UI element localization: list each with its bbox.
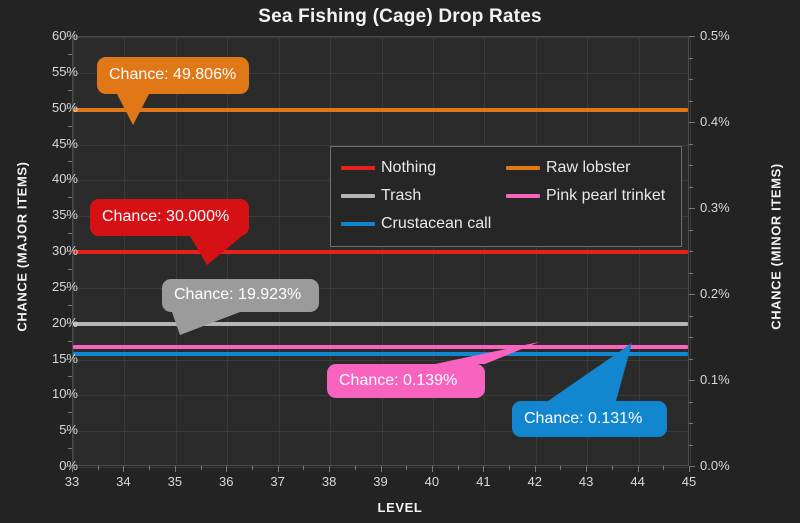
tickmark-y-left xyxy=(66,179,72,180)
legend-item-trash[interactable]: Trash xyxy=(341,187,506,205)
legend-label: Nothing xyxy=(381,159,436,177)
tickmark-y-right xyxy=(689,445,693,446)
y-axis-right-tick-label: 0.4% xyxy=(700,114,730,129)
series-line-crustacean-call xyxy=(73,352,688,356)
tickmark-y-left xyxy=(66,251,72,252)
tickmark-y-right xyxy=(689,101,693,102)
legend-swatch-icon xyxy=(506,194,540,198)
series-line-trash xyxy=(73,322,688,326)
drop-rates-chart: Sea Fishing (Cage) Drop Rates CHANCE (MA… xyxy=(0,0,800,523)
callout-label: Chance: 30.000% xyxy=(90,199,249,236)
y-axis-right-tick-label: 0.1% xyxy=(700,372,730,387)
gridline-horizontal xyxy=(73,360,688,361)
x-axis-tick-label: 34 xyxy=(103,474,143,489)
x-axis-tick-label: 38 xyxy=(309,474,349,489)
tickmark-y-right xyxy=(689,380,695,381)
tickmark-y-left xyxy=(66,323,72,324)
x-axis-tick-label: 33 xyxy=(52,474,92,489)
tickmark-y-right xyxy=(689,273,693,274)
tickmark-y-left xyxy=(66,36,72,37)
chart-legend: NothingRaw lobsterTrashPink pearl trinke… xyxy=(330,146,682,247)
series-line-pink-pearl-trinket xyxy=(73,345,688,349)
tickmark-y-left xyxy=(68,412,72,413)
y-axis-left-title: CHANCE (MAJOR ITEMS) xyxy=(15,147,30,347)
y-axis-right-tick-label: 0.5% xyxy=(700,28,730,43)
y-axis-left-tick-label: 30% xyxy=(52,243,78,258)
tickmark-y-right xyxy=(689,187,693,188)
tickmark-y-left xyxy=(68,305,72,306)
tickmark-y-left xyxy=(68,376,72,377)
legend-swatch-icon xyxy=(341,222,375,226)
callout-label: Chance: 19.923% xyxy=(162,279,319,312)
tickmark-x xyxy=(175,466,176,472)
y-axis-left-tick-label: 40% xyxy=(52,171,78,186)
tickmark-y-right xyxy=(689,58,693,59)
y-axis-left-tick-label: 15% xyxy=(52,351,78,366)
tickmark-y-right xyxy=(689,36,695,37)
callout-label: Chance: 0.131% xyxy=(512,401,667,437)
y-axis-left-tick-label: 35% xyxy=(52,207,78,222)
y-axis-left-tick-label: 45% xyxy=(52,136,78,151)
tickmark-y-left xyxy=(68,126,72,127)
tickmark-x xyxy=(458,466,459,470)
tickmark-x xyxy=(663,466,664,470)
x-axis-tick-label: 40 xyxy=(412,474,452,489)
tickmark-y-right xyxy=(689,251,693,252)
y-axis-left-tick-label: 10% xyxy=(52,386,78,401)
tickmark-y-right xyxy=(689,337,693,338)
x-axis-tick-label: 36 xyxy=(206,474,246,489)
tickmark-y-left xyxy=(68,448,72,449)
tickmark-x xyxy=(72,466,73,472)
tickmark-x xyxy=(535,466,536,472)
tickmark-y-left xyxy=(68,161,72,162)
y-axis-left-tick-label: 25% xyxy=(52,279,78,294)
tickmark-y-right xyxy=(689,208,695,209)
tickmark-x xyxy=(638,466,639,472)
x-axis-tick-label: 45 xyxy=(669,474,709,489)
callout-label: Chance: 49.806% xyxy=(97,57,249,94)
y-axis-right-tick-label: 0.2% xyxy=(700,286,730,301)
tickmark-x xyxy=(355,466,356,470)
x-axis-tick-label: 39 xyxy=(361,474,401,489)
tickmark-x xyxy=(329,466,330,472)
x-axis-tick-label: 42 xyxy=(515,474,555,489)
series-line-nothing xyxy=(73,250,688,254)
tickmark-y-left xyxy=(66,72,72,73)
legend-item-nothing[interactable]: Nothing xyxy=(341,159,506,177)
tickmark-x xyxy=(201,466,202,470)
y-axis-right-title: CHANCE (MINOR ITEMS) xyxy=(769,147,784,347)
tickmark-x xyxy=(381,466,382,472)
callout-label: Chance: 0.139% xyxy=(327,364,485,398)
tickmark-y-right xyxy=(689,79,693,80)
tickmark-y-left xyxy=(68,341,72,342)
tickmark-y-right xyxy=(689,316,693,317)
y-axis-left-tick-label: 60% xyxy=(52,28,78,43)
tickmark-y-left xyxy=(66,430,72,431)
legend-label: Raw lobster xyxy=(546,159,630,177)
tickmark-x xyxy=(252,466,253,470)
x-axis-tick-label: 41 xyxy=(463,474,503,489)
y-axis-right-tick-label: 0.3% xyxy=(700,200,730,215)
tickmark-x xyxy=(483,466,484,472)
y-axis-left-tick-label: 20% xyxy=(52,315,78,330)
legend-swatch-icon xyxy=(506,166,540,170)
x-axis-title: LEVEL xyxy=(0,500,800,515)
tickmark-x xyxy=(303,466,304,470)
tickmark-y-left xyxy=(66,394,72,395)
gridline-horizontal xyxy=(73,37,688,38)
legend-label: Trash xyxy=(381,187,421,205)
tickmark-y-right xyxy=(689,402,693,403)
chart-title: Sea Fishing (Cage) Drop Rates xyxy=(0,6,800,28)
tickmark-y-left xyxy=(68,54,72,55)
tickmark-y-right xyxy=(689,294,695,295)
legend-swatch-icon xyxy=(341,194,375,198)
tickmark-y-left xyxy=(66,144,72,145)
tickmark-x xyxy=(149,466,150,470)
tickmark-x xyxy=(278,466,279,472)
tickmark-x xyxy=(509,466,510,470)
x-axis-tick-label: 43 xyxy=(566,474,606,489)
tickmark-y-left xyxy=(68,197,72,198)
tickmark-y-right xyxy=(689,230,693,231)
tickmark-y-right xyxy=(689,359,693,360)
legend-item-raw-lobster[interactable]: Raw lobster xyxy=(506,159,671,177)
tickmark-y-right xyxy=(689,165,693,166)
tickmark-y-left xyxy=(68,90,72,91)
tickmark-y-left xyxy=(68,233,72,234)
series-line-raw-lobster xyxy=(73,108,688,112)
tickmark-y-right xyxy=(689,423,693,424)
tickmark-y-left xyxy=(66,108,72,109)
x-axis-tick-label: 35 xyxy=(155,474,195,489)
legend-item-crustacean-call[interactable]: Crustacean call xyxy=(341,215,506,233)
tickmark-y-left xyxy=(66,215,72,216)
legend-item-pink-pearl-trinket[interactable]: Pink pearl trinket xyxy=(506,187,671,205)
tickmark-x xyxy=(560,466,561,470)
tickmark-y-right xyxy=(689,122,695,123)
tickmark-y-left xyxy=(68,269,72,270)
y-axis-left-tick-label: 50% xyxy=(52,100,78,115)
tickmark-y-right xyxy=(689,144,693,145)
legend-swatch-icon xyxy=(341,166,375,170)
tickmark-x xyxy=(612,466,613,470)
legend-label: Crustacean call xyxy=(381,215,491,233)
legend-label: Pink pearl trinket xyxy=(546,187,665,205)
tickmark-y-left xyxy=(66,287,72,288)
tickmark-x xyxy=(98,466,99,470)
x-axis-tick-label: 44 xyxy=(618,474,658,489)
y-axis-right-tick-label: 0.0% xyxy=(700,458,730,473)
x-axis-tick-label: 37 xyxy=(258,474,298,489)
tickmark-x xyxy=(226,466,227,472)
tickmark-x xyxy=(406,466,407,470)
tickmark-x xyxy=(432,466,433,472)
tickmark-y-left xyxy=(66,359,72,360)
tickmark-x xyxy=(586,466,587,472)
tickmark-x xyxy=(123,466,124,472)
tickmark-x xyxy=(689,466,690,472)
y-axis-left-tick-label: 55% xyxy=(52,64,78,79)
